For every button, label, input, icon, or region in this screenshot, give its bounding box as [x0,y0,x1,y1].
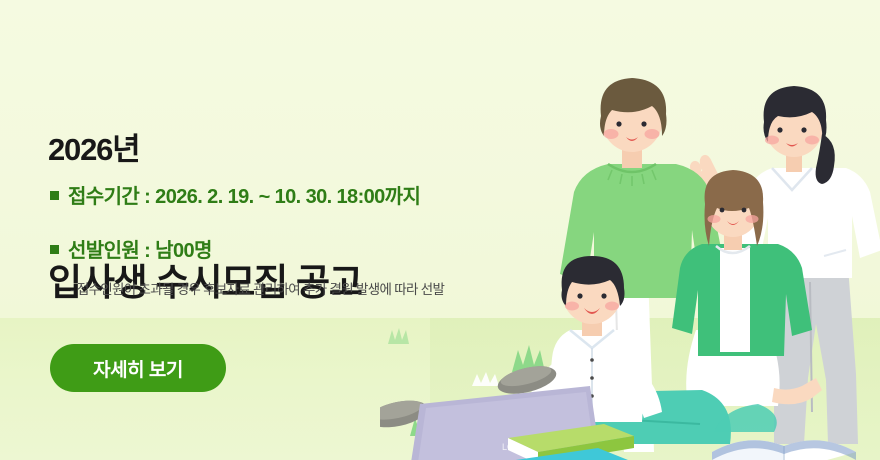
page-title: 2026년 입사생 수시모집 공고 [48,40,362,396]
recruitment-banner: LG [0,0,880,460]
application-period-text: 접수기간 : 2026. 2. 19. ~ 10. 30. 18:00까지 [68,180,420,209]
info-row-application-period: 접수기간 : 2026. 2. 19. ~ 10. 30. 18:00까지 [50,180,420,209]
selection-count-text: 선발인원 : 남00명 [68,234,212,263]
square-bullet-icon [50,245,59,254]
additional-note: - 접수인원이 초과될 경우 후보자료 관리하여 추가 결원 발생에 따라 선발 [70,278,444,298]
headline-line-1: 2026년 [48,130,362,170]
info-row-selection-count: 선발인원 : 남00명 [50,234,212,263]
square-bullet-icon [50,191,59,200]
banner-content: 2026년 입사생 수시모집 공고 접수기간 : 2026. 2. 19. ~ … [48,0,608,460]
view-details-button[interactable]: 자세히 보기 [50,344,226,392]
